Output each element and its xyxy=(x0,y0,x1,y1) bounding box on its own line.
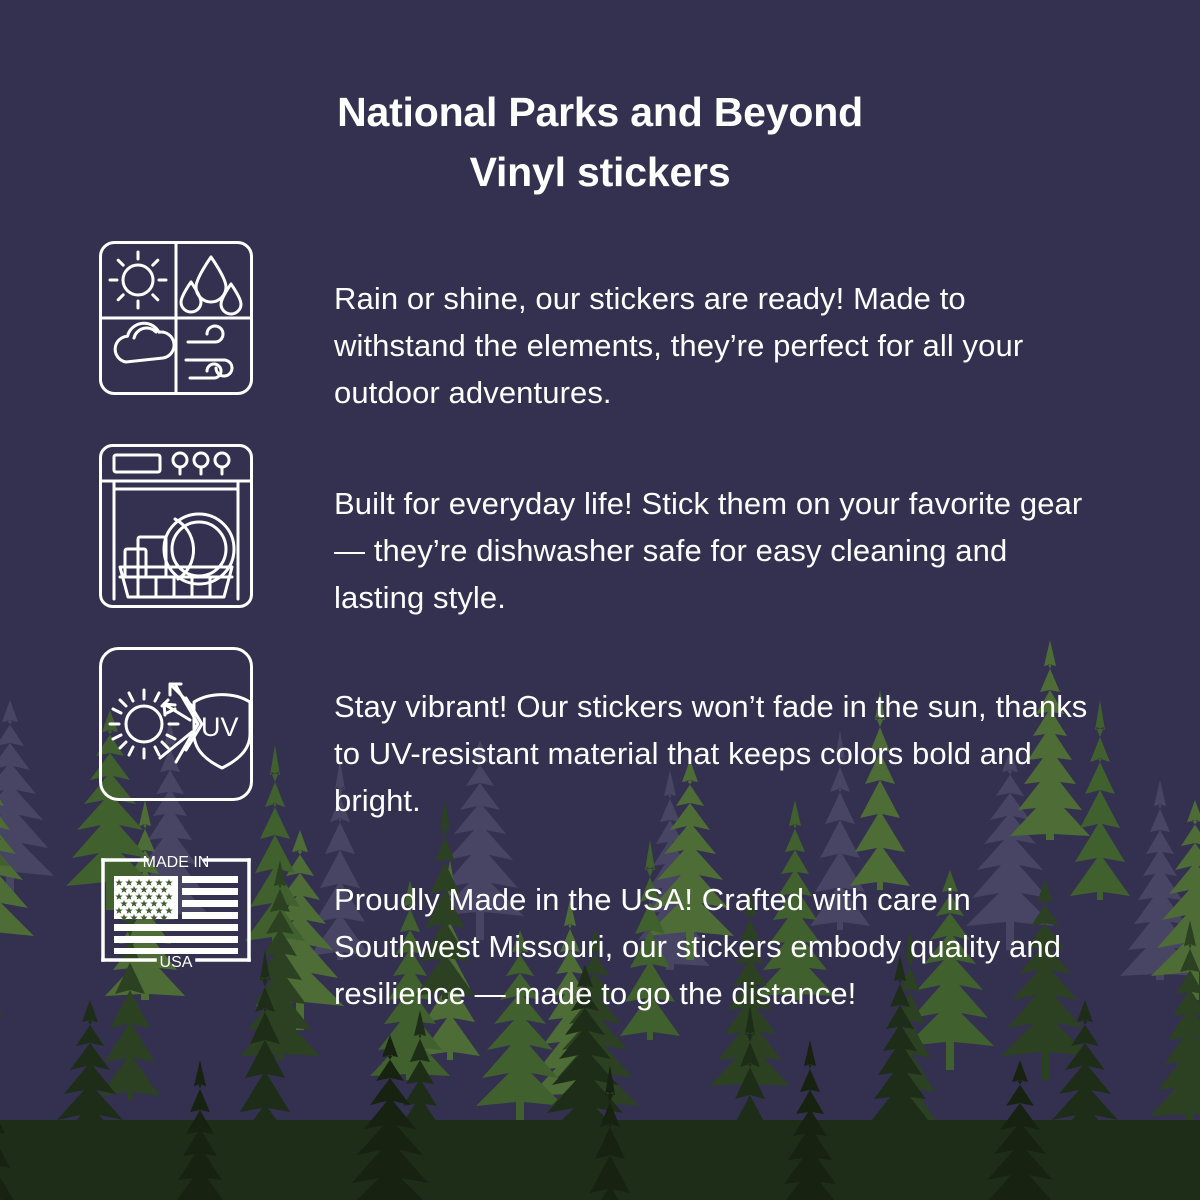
dishwasher-icon xyxy=(98,443,254,609)
usa-label: USA xyxy=(160,954,193,970)
sun-icon xyxy=(110,690,178,758)
display-panel xyxy=(114,455,160,472)
plates-icon xyxy=(164,514,234,584)
feature-text-weather: Rain or shine, our stickers are ready! M… xyxy=(334,275,1106,416)
page-title-line2: Vinyl stickers xyxy=(0,143,1200,202)
sun-icon xyxy=(110,252,166,308)
feature-text-dishwasher: Built for everyday life! Stick them on y… xyxy=(334,480,1106,621)
uv-shield-icon: UV xyxy=(98,646,254,802)
weather-grid-icon xyxy=(98,240,254,396)
flag-canton xyxy=(114,876,178,921)
wind-icon xyxy=(186,326,232,378)
page-title: National Parks and Beyond Vinyl stickers xyxy=(0,83,1200,201)
glassware-icon xyxy=(125,537,166,577)
deflect-arrows-icon xyxy=(160,684,202,762)
uv-label: UV xyxy=(201,712,239,742)
made-in-usa-flag-icon: MADE IN USA xyxy=(100,850,252,970)
feature-text-made-in-usa: Proudly Made in the USA! Crafted with ca… xyxy=(334,876,1106,1017)
knobs-icon xyxy=(173,453,229,474)
poster-canvas: National Parks and Beyond Vinyl stickers xyxy=(0,0,1200,1200)
raindrop-icon xyxy=(181,257,241,314)
poster-content: National Parks and Beyond Vinyl stickers xyxy=(0,0,1200,1200)
cloud-icon xyxy=(115,323,174,362)
page-title-line1: National Parks and Beyond xyxy=(0,83,1200,142)
feature-text-uv: Stay vibrant! Our stickers won’t fade in… xyxy=(334,683,1106,824)
made-in-label: MADE IN xyxy=(143,854,210,871)
